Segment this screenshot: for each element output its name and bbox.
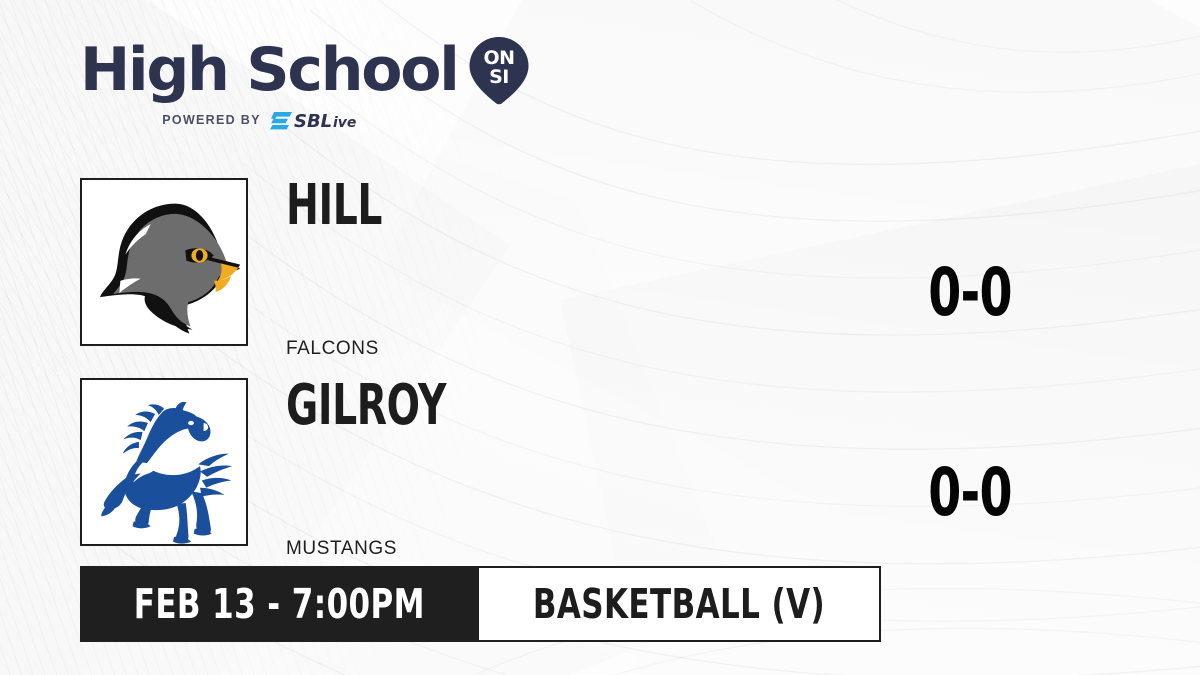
away-team-record: 0-0 <box>906 260 1034 326</box>
home-team-record: 0-0 <box>906 460 1034 526</box>
powered-by-label: POWERED BY <box>162 113 260 127</box>
powered-by-row: POWERED BY SBL ive <box>80 110 476 130</box>
home-team-logo-box <box>80 378 248 546</box>
brand-wordmark: High School <box>80 39 458 101</box>
mustang-horse-icon <box>82 380 246 544</box>
away-team-logo-box <box>80 178 248 346</box>
game-datetime-block: FEB 13 - 7:00PM <box>80 566 479 642</box>
brand-lockup: High School ON SI POWERED BY <box>80 36 510 130</box>
home-team-mascot: MUSTANGS <box>286 538 397 560</box>
matchup-graphic: High School ON SI POWERED BY <box>0 0 1200 675</box>
svg-text:SBL: SBL <box>294 111 332 131</box>
game-sport-text: BASKETBALL (V) <box>532 584 824 625</box>
away-team-school: HILL <box>286 178 382 234</box>
sblive-logo-icon: SBL ive <box>270 109 394 131</box>
home-team-school: GILROY <box>286 378 446 434</box>
game-sport-block: BASKETBALL (V) <box>479 566 881 642</box>
away-team-mascot: FALCONS <box>286 338 379 360</box>
falcon-head-icon <box>82 180 246 344</box>
onsi-pin-icon: ON SI <box>468 35 530 105</box>
game-datetime-text: FEB 13 - 7:00PM <box>134 584 425 625</box>
pin-text-si: SI <box>489 66 509 88</box>
game-info-bar: FEB 13 - 7:00PM BASKETBALL (V) <box>80 566 881 642</box>
svg-text:ive: ive <box>333 115 356 131</box>
